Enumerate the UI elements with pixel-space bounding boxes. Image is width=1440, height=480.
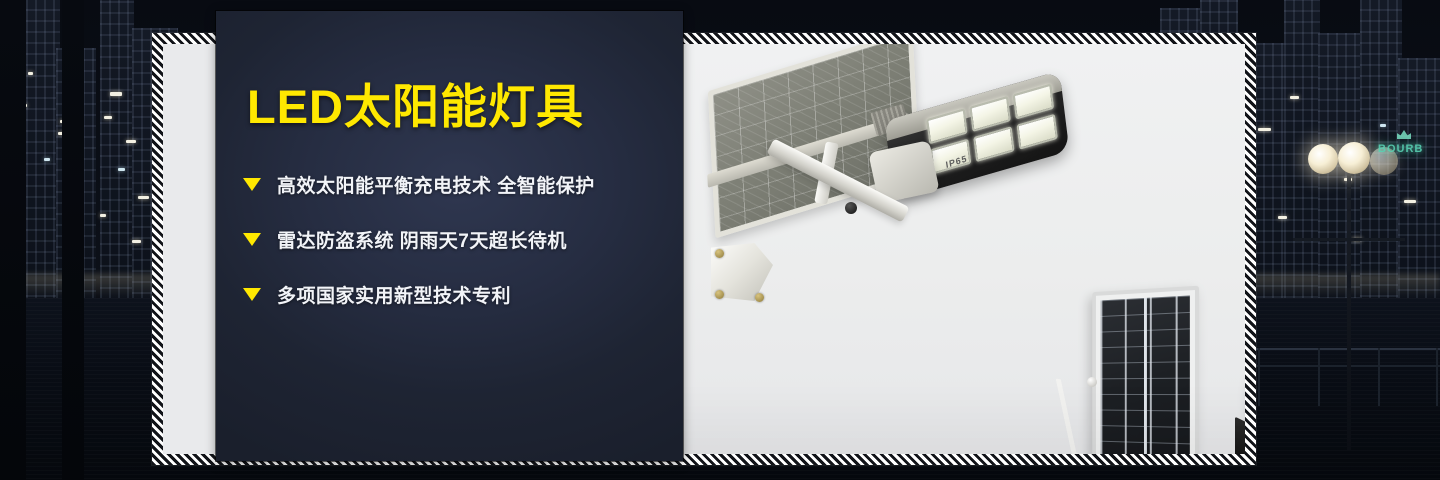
triangle-down-icon: [243, 288, 261, 301]
bracket-bolt-icon: [715, 290, 724, 299]
lamp-globe-icon: [1308, 144, 1338, 174]
feature-label: 多项国家实用新型技术专利: [277, 281, 511, 308]
neon-sign-text: BOURB: [1378, 143, 1423, 155]
street-lamp-post: [1347, 150, 1351, 450]
skyline-tower: [100, 0, 134, 298]
triangle-down-icon: [243, 178, 261, 191]
led-module: [1016, 114, 1058, 150]
feature-label: 雷达防盗系统 阴雨天7天超长待机: [277, 226, 567, 253]
feature-list: 高效太阳能平衡充电技术 全智能保护 雷达防盗系统 阴雨天7天超长待机 多项国家实…: [243, 171, 663, 336]
feature-item: 雷达防盗系统 阴雨天7天超长待机: [243, 226, 663, 253]
radar-sensor-icon: [845, 202, 857, 214]
lamp-arm: [1293, 238, 1405, 241]
lamp-globe-icon: [1338, 142, 1370, 174]
headline-panel: LED太阳能灯具 高效太阳能平衡充电技术 全智能保护 雷达防盗系统 阴雨天7天超…: [216, 11, 683, 461]
bracket-bolt-icon: [755, 293, 764, 302]
feature-item: 多项国家实用新型技术专利: [243, 281, 663, 308]
page-title: LED太阳能灯具: [247, 68, 584, 137]
skyline-tower: [1398, 58, 1440, 298]
bracket-bolt-icon: [715, 249, 724, 258]
hatched-frame-border: IP65: [152, 33, 1256, 465]
foreground-pillar: [62, 0, 84, 480]
frame-inner-surface: IP65: [163, 44, 1245, 454]
led-module: [973, 126, 1015, 162]
foreground-pillar: [0, 0, 26, 480]
stage-floor-shadow: [683, 384, 1245, 454]
triangle-down-icon: [243, 233, 261, 246]
feature-label: 高效太阳能平衡充电技术 全智能保护: [277, 171, 595, 198]
product-banner: BOURB: [0, 0, 1440, 480]
solar-street-light-product: IP65: [697, 54, 1027, 344]
product-stage: IP65: [683, 44, 1245, 454]
feature-item: 高效太阳能平衡充电技术 全智能保护: [243, 171, 663, 198]
